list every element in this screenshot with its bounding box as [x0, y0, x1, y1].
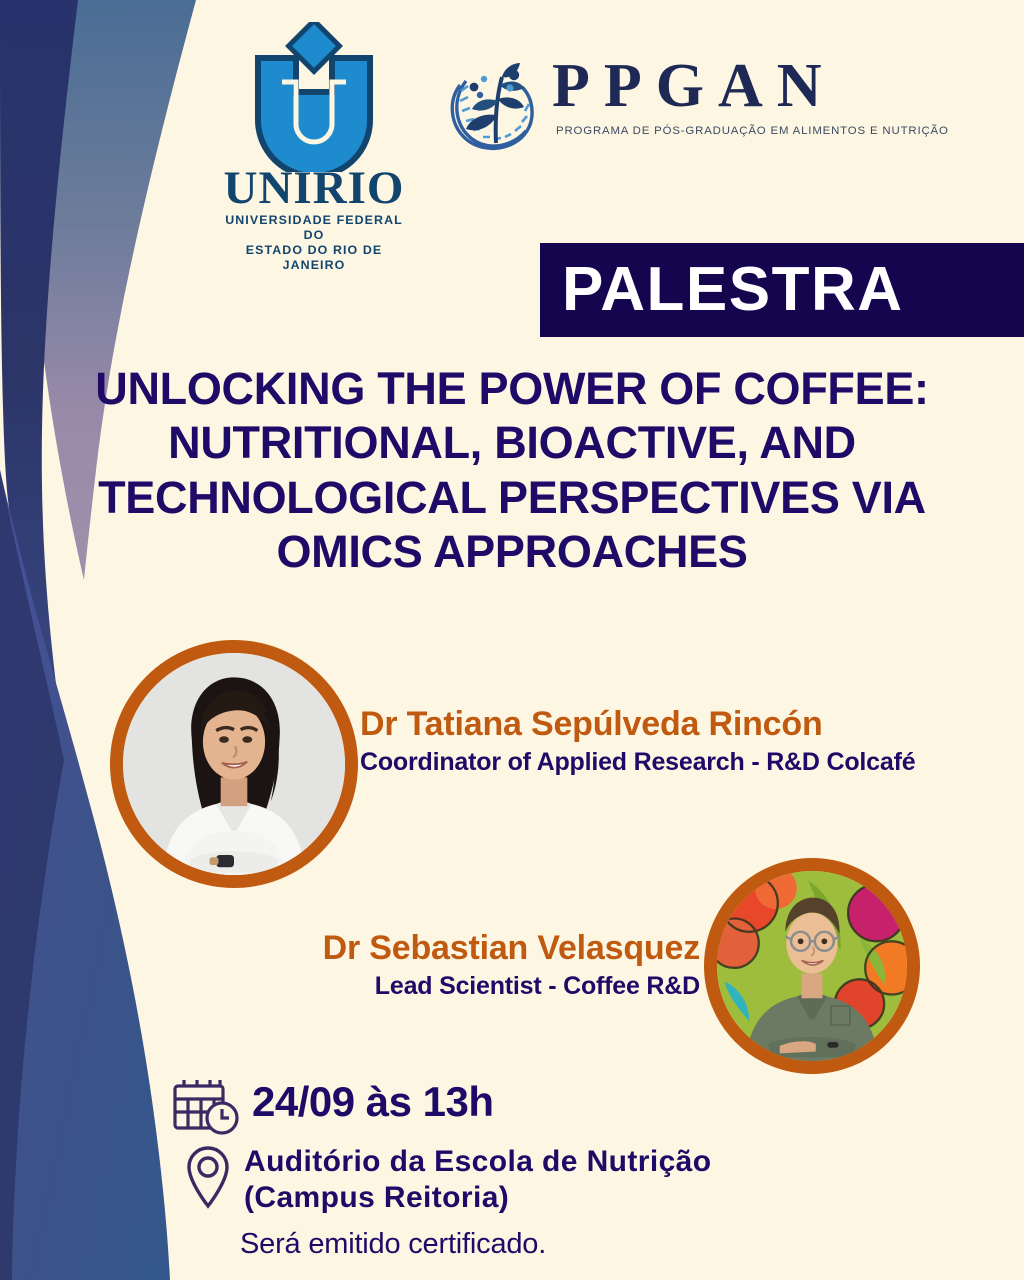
portrait-tatiana-image — [123, 653, 345, 875]
speaker-1-portrait — [110, 640, 358, 888]
palestra-label: PALESTRA — [562, 259, 904, 321]
portrait-sebastian-image — [717, 871, 907, 1061]
speaker-2-portrait — [704, 858, 920, 1074]
speaker-2-info: Dr Sebastian Velasquez Lead Scientist - … — [120, 928, 700, 1002]
plant-dna-wreath-icon — [440, 55, 548, 155]
calendar-clock-icon — [172, 1078, 242, 1136]
speaker-1-info: Dr Tatiana Sepúlveda Rincón Coordinator … — [360, 704, 1000, 778]
speaker-2-role: Lead Scientist - Coffee R&D — [120, 971, 700, 1002]
unirio-logo: UNIRIO UNIVERSIDADE FEDERAL DO ESTADO DO… — [216, 22, 412, 273]
palestra-banner: PALESTRA — [540, 243, 1024, 337]
ppgan-wordmark: PPGAN — [552, 53, 836, 120]
ppgan-logo: PPGAN PROGRAMA DE PÓS-GRADUAÇÃO EM ALIME… — [440, 55, 860, 155]
speaker-2-name: Dr Sebastian Velasquez — [120, 928, 700, 968]
talk-title: UNLOCKING THE POWER OF COFFEE: NUTRITION… — [62, 362, 962, 580]
logo-row: UNIRIO UNIVERSIDADE FEDERAL DO ESTADO DO… — [0, 0, 1024, 215]
location-text: Auditório da Escola de Nutrição (Campus … — [244, 1144, 711, 1216]
unirio-u-mark-icon — [216, 22, 412, 172]
unirio-wordmark: UNIRIO — [216, 166, 412, 211]
datetime-text: 24/09 às 13h — [252, 1080, 494, 1124]
ppgan-subtitle: PROGRAMA DE PÓS-GRADUAÇÃO EM ALIMENTOS E… — [556, 125, 949, 137]
datetime-row: 24/09 às 13h — [172, 1078, 494, 1136]
location-line1: Auditório da Escola de Nutrição — [244, 1144, 711, 1180]
speaker-1-role: Coordinator of Applied Research - R&D Co… — [360, 747, 1000, 778]
unirio-subtitle: UNIVERSIDADE FEDERAL DO ESTADO DO RIO DE… — [216, 213, 412, 274]
location-line2: (Campus Reitoria) — [244, 1180, 711, 1216]
unirio-subtitle-line1: UNIVERSIDADE FEDERAL DO — [216, 213, 412, 243]
event-poster: UNIRIO UNIVERSIDADE FEDERAL DO ESTADO DO… — [0, 0, 1024, 1280]
speaker-1-name: Dr Tatiana Sepúlveda Rincón — [360, 704, 1000, 744]
location-row: Auditório da Escola de Nutrição (Campus … — [182, 1142, 711, 1216]
unirio-subtitle-line2: ESTADO DO RIO DE JANEIRO — [216, 243, 412, 273]
certificate-note: Será emitido certificado. — [240, 1228, 546, 1261]
location-pin-icon — [182, 1142, 234, 1210]
